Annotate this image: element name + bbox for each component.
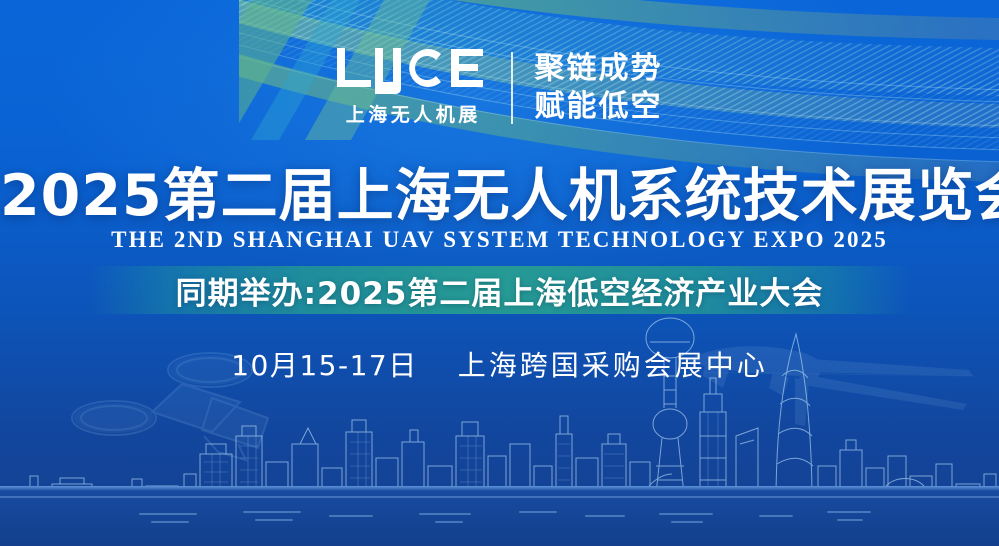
slogan-line-1: 聚链成势 xyxy=(535,51,663,86)
event-poster: 上海无人机展 聚链成势 赋能低空 2025第二届上海无人机系统技术展览会 THE… xyxy=(0,0,999,546)
logo-chinese-name: 上海无人机展 xyxy=(342,100,481,127)
concurrent-event-banner: 同期举办:2025第二届上海低空经济产业大会 xyxy=(0,266,999,314)
logo-lockup: 上海无人机展 聚链成势 赋能低空 xyxy=(0,48,999,127)
event-venue: 上海跨国采购会展中心 xyxy=(458,344,768,384)
logo-divider xyxy=(511,52,513,124)
poster-content: 上海无人机展 聚链成势 赋能低空 2025第二届上海无人机系统技术展览会 THE… xyxy=(0,0,999,546)
main-title-chinese: 2025第二届上海无人机系统技术展览会 xyxy=(0,166,999,228)
uuce-wordmark-icon xyxy=(337,48,487,94)
event-meta-row: 10月15-17日 上海跨国采购会展中心 xyxy=(0,344,999,384)
main-title-english: THE 2ND SHANGHAI UAV SYSTEM TECHNOLOGY E… xyxy=(0,227,999,253)
logo-slogan: 聚链成势 赋能低空 xyxy=(535,51,663,124)
logo-left: 上海无人机展 xyxy=(337,48,487,127)
slogan-line-2: 赋能低空 xyxy=(535,89,663,124)
banner-text: 同期举办:2025第二届上海低空经济产业大会 xyxy=(176,268,824,313)
event-date: 10月15-17日 xyxy=(231,344,418,384)
